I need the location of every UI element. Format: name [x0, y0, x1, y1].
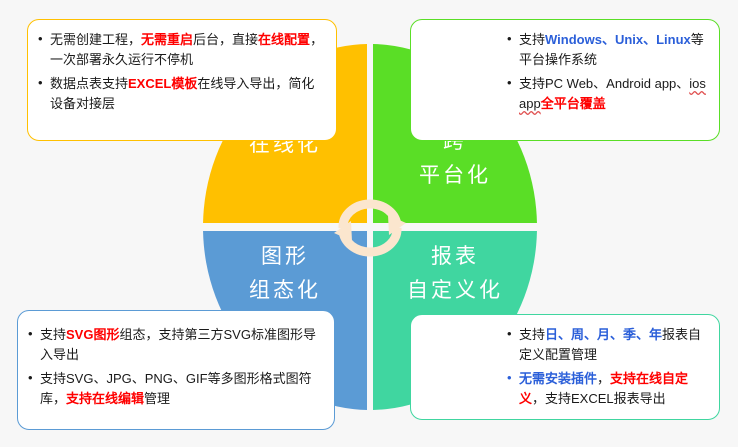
callout-cross-platform-item-0: 支持Windows、Unix、Linux等平台操作系统: [519, 32, 704, 67]
callout-cross-platform-item-1: 支持PC Web、Android app、ios app全平台覆盖: [519, 76, 706, 111]
callout-report-list: 支持日、周、月、季、年报表自定义配置管理 无需安装插件，支持在线自定义，支持EX…: [507, 325, 707, 409]
list-item: 无需安装插件，支持在线自定义，支持EXCEL报表导出: [507, 369, 707, 409]
callout-graphics-item-1: 支持SVG、JPG、PNG、GIF等多图形格式图符库，支持在线编辑管理: [40, 371, 312, 406]
callout-report-item-0: 支持日、周、月、季、年报表自定义配置管理: [519, 327, 701, 362]
callout-cross-platform-list: 支持Windows、Unix、Linux等平台操作系统 支持PC Web、And…: [507, 30, 707, 114]
callout-graphics: 支持SVG图形组态，支持第三方SVG标准图形导入导出 支持SVG、JPG、PNG…: [17, 310, 335, 430]
list-item: 无需创建工程，无需重启后台，直接在线配置，一次部署永久运行不停机: [38, 30, 324, 70]
callout-graphics-item-0: 支持SVG图形组态，支持第三方SVG标准图形导入导出: [40, 327, 316, 362]
list-item: 支持SVG、JPG、PNG、GIF等多图形格式图符库，支持在线编辑管理: [28, 369, 322, 409]
callout-online-item-0: 无需创建工程，无需重启后台，直接在线配置，一次部署永久运行不停机: [50, 32, 323, 67]
callout-graphics-list: 支持SVG图形组态，支持第三方SVG标准图形导入导出 支持SVG、JPG、PNG…: [28, 325, 322, 409]
list-item: 支持Windows、Unix、Linux等平台操作系统: [507, 30, 707, 70]
list-item: 支持SVG图形组态，支持第三方SVG标准图形导入导出: [28, 325, 322, 365]
callout-report: 支持日、周、月、季、年报表自定义配置管理 无需安装插件，支持在线自定义，支持EX…: [410, 314, 720, 420]
list-item: 数据点表支持EXCEL模板在线导入导出，简化设备对接层: [38, 74, 324, 114]
callout-online-item-1: 数据点表支持EXCEL模板在线导入导出，简化设备对接层: [50, 76, 314, 111]
callout-report-item-1: 无需安装插件，支持在线自定义，支持EXCEL报表导出: [519, 371, 688, 406]
callout-cross-platform: 支持Windows、Unix、Linux等平台操作系统 支持PC Web、And…: [410, 19, 720, 141]
list-item: 支持PC Web、Android app、ios app全平台覆盖: [507, 74, 707, 114]
callout-online: 无需创建工程，无需重启后台，直接在线配置，一次部署永久运行不停机 数据点表支持E…: [27, 19, 337, 141]
list-item: 支持日、周、月、季、年报表自定义配置管理: [507, 325, 707, 365]
callout-online-list: 无需创建工程，无需重启后台，直接在线配置，一次部署永久运行不停机 数据点表支持E…: [38, 30, 324, 114]
